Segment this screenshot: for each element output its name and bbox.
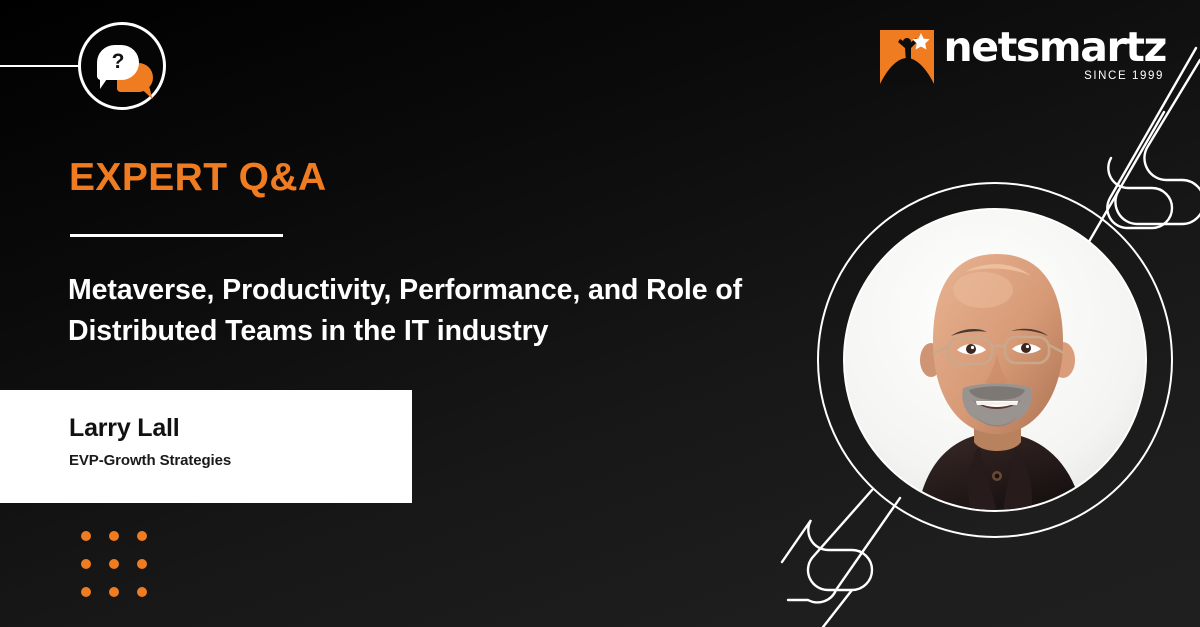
badge-connector-line bbox=[0, 65, 82, 67]
speaker-role: EVP-Growth Strategies bbox=[69, 452, 412, 469]
white-speech-bubble-icon: ? bbox=[97, 45, 139, 80]
logo-wordmark: netsmartz bbox=[944, 26, 1166, 69]
speaker-name: Larry Lall bbox=[69, 414, 412, 443]
speaker-card: Larry Lall EVP-Growth Strategies bbox=[0, 390, 412, 503]
grid-dot bbox=[109, 559, 119, 569]
headline-text: Metaverse, Productivity, Performance, an… bbox=[68, 270, 758, 353]
grid-dot bbox=[109, 531, 119, 541]
grid-dot bbox=[137, 559, 147, 569]
speaker-avatar bbox=[843, 208, 1147, 512]
grid-dot bbox=[137, 531, 147, 541]
qa-badge-icon: ? bbox=[78, 22, 166, 110]
logo-text-block: netsmartz SINCE 1999 bbox=[944, 26, 1166, 82]
grid-dot bbox=[81, 559, 91, 569]
netsmartz-mark-icon bbox=[880, 30, 934, 84]
eyebrow-label: EXPERT Q&A bbox=[69, 158, 327, 197]
netsmartz-logo[interactable]: netsmartz SINCE 1999 bbox=[880, 26, 1166, 84]
eyebrow-divider bbox=[70, 234, 283, 237]
dot-grid-decoration bbox=[81, 531, 165, 615]
question-mark-glyph: ? bbox=[112, 51, 125, 72]
grid-dot bbox=[137, 587, 147, 597]
logo-tagline: SINCE 1999 bbox=[944, 70, 1166, 82]
grid-dot bbox=[109, 587, 119, 597]
grid-dot bbox=[81, 587, 91, 597]
grid-dot bbox=[81, 531, 91, 541]
promo-card: ? netsmartz SINCE 1999 EXPERT Q&A Metave… bbox=[0, 0, 1200, 627]
